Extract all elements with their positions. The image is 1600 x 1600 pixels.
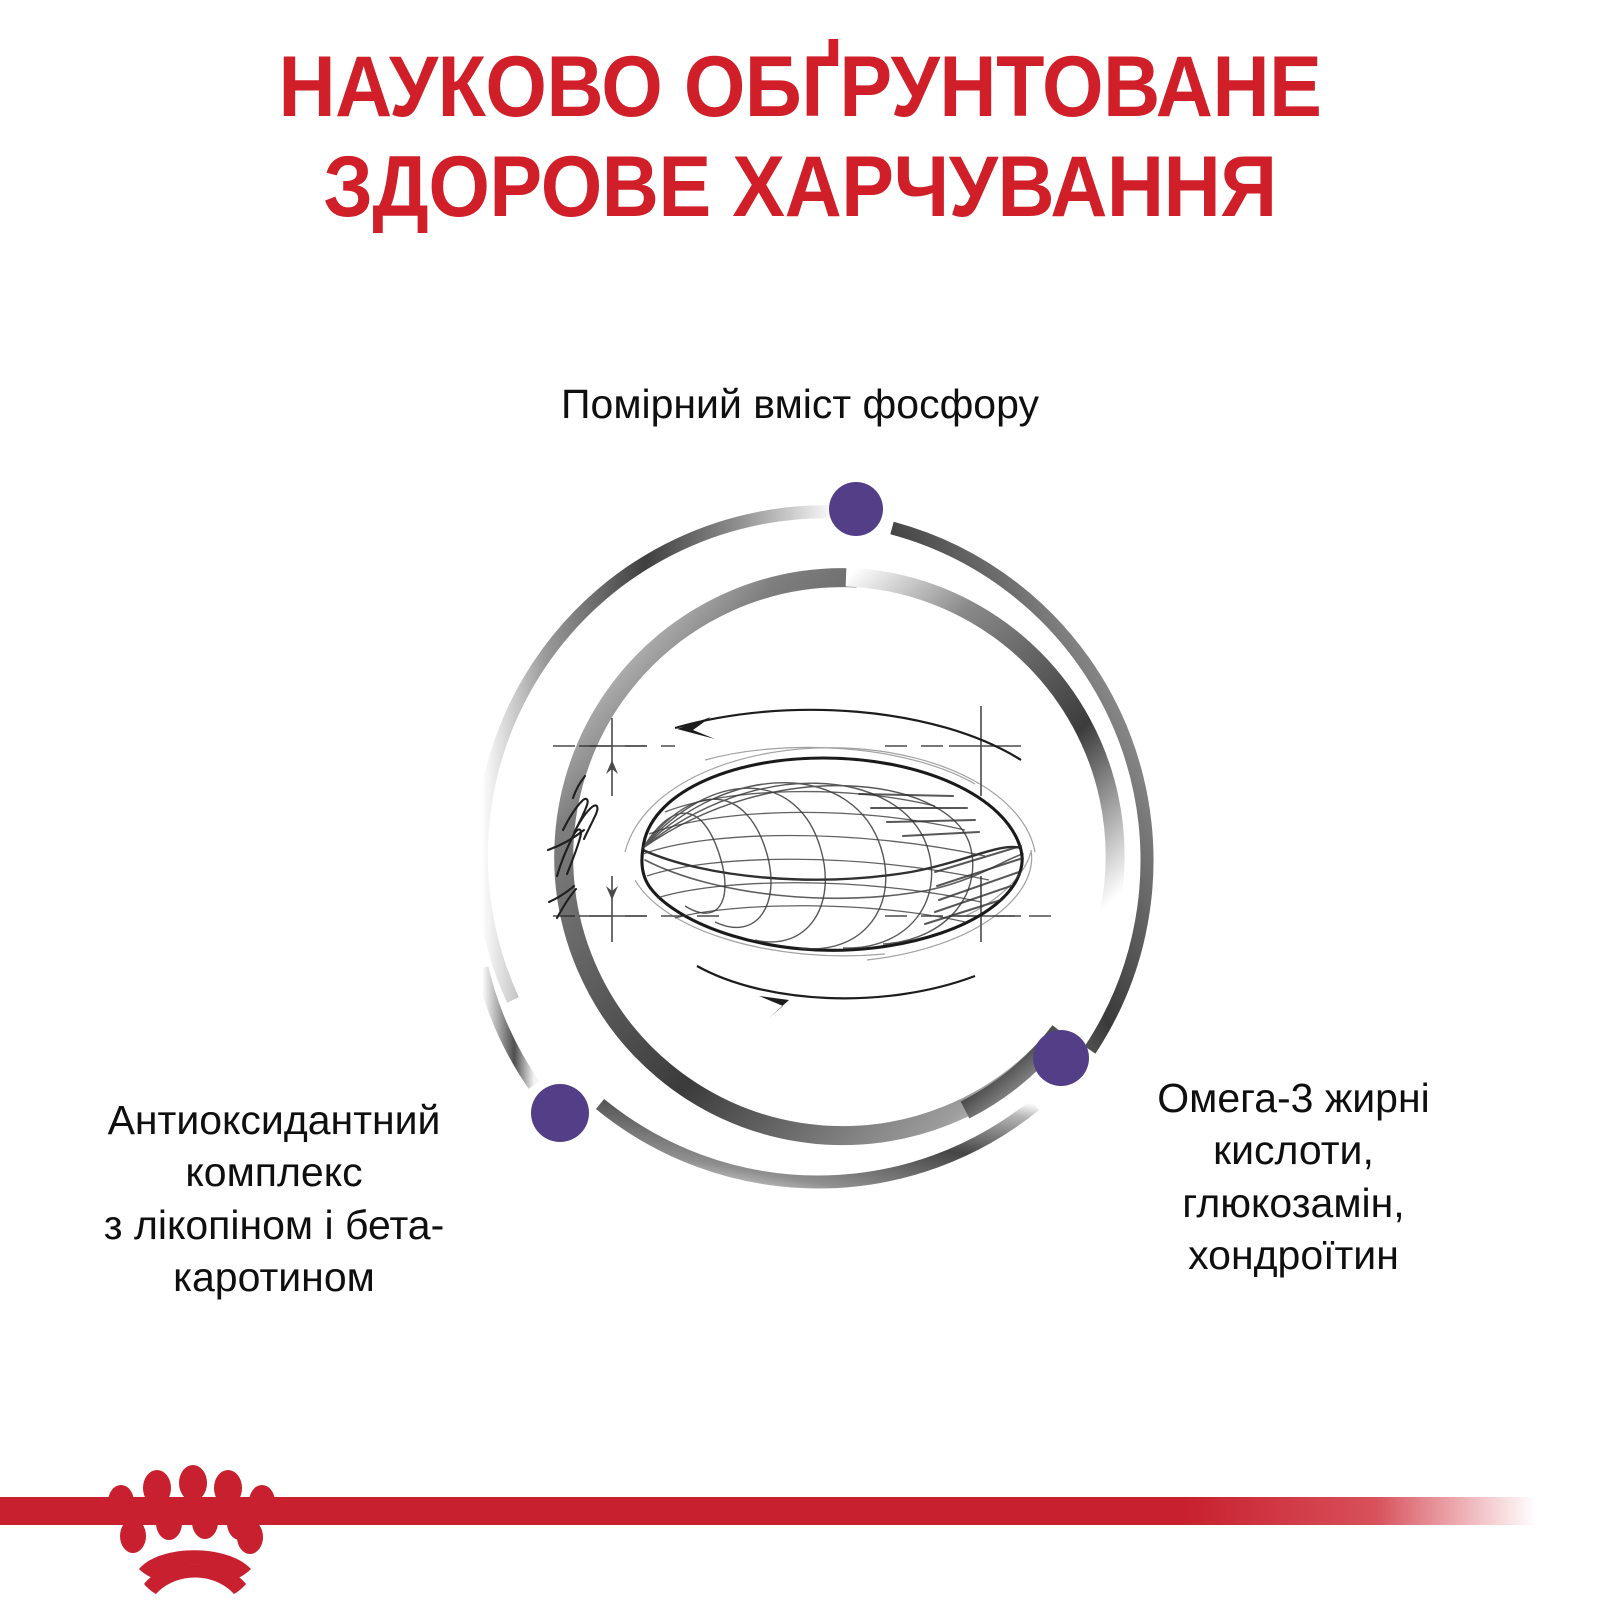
label-antioxidant: Антиоксидантний комплекс з лікопіном і б… xyxy=(24,1094,524,1304)
node-omega3[interactable] xyxy=(1033,1030,1089,1086)
inner-ring-arc-main xyxy=(564,578,1053,1136)
inner-ring-arc-bottom-right xyxy=(965,1031,1060,1110)
nutrition-circle-diagram xyxy=(0,0,1600,1600)
label-omega3: Омега-3 жирні кислоти, глюкозамін, хондр… xyxy=(1086,1072,1501,1282)
crown-dot-top-center xyxy=(179,1465,207,1501)
inner-ring-arc-top xyxy=(846,577,1115,1000)
outer-ring xyxy=(481,512,1147,1182)
kibble-shading xyxy=(859,794,1023,924)
inner-ring xyxy=(564,577,1115,1136)
sketch-rotation-arrows xyxy=(675,710,1021,1018)
footer-svg xyxy=(0,1440,1600,1600)
crown-dot-top-right xyxy=(214,1470,242,1506)
crown-dot-mid-right-outer xyxy=(237,1520,263,1554)
crown-dot-mid-left-outer xyxy=(120,1519,146,1553)
footer-brand-bar xyxy=(0,1440,1600,1600)
sketch-handwritten-note xyxy=(548,776,597,918)
crown-dot-mid-left xyxy=(156,1506,182,1540)
crown-dot-top-left xyxy=(143,1470,171,1506)
outer-ring-arc-bottom xyxy=(600,1104,1035,1182)
node-phosphorus[interactable] xyxy=(829,482,883,536)
kibble-wireframe-latitudes xyxy=(643,792,989,922)
sketch-construction-lines xyxy=(553,706,1055,942)
outer-ring-arc-top-left xyxy=(481,512,837,1000)
crown-dot-top-left-outer xyxy=(108,1485,134,1519)
diagram-svg xyxy=(0,0,1600,1600)
node-antioxidant[interactable] xyxy=(531,1084,589,1142)
kibble-sketch-overshoot xyxy=(625,747,1035,960)
kibble-wireframe xyxy=(643,783,973,949)
kibble-body xyxy=(642,758,1023,950)
page-title: НАУКОВО ОБҐРУНТОВАНЕ ЗДОРОВЕ ХАРЧУВАННЯ xyxy=(64,38,1536,238)
infographic-page: НАУКОВО ОБҐРУНТОВАНЕ ЗДОРОВЕ ХАРЧУВАННЯ xyxy=(0,0,1600,1600)
label-phosphorus: Помірний вміст фосфору xyxy=(0,378,1600,430)
kibble-sketch xyxy=(548,706,1055,1018)
outer-ring-arc-right xyxy=(892,528,1147,1050)
outer-ring-arc-lower-left xyxy=(482,968,534,1085)
crown-dot-top-right-outer xyxy=(249,1485,275,1519)
crown-dot-mid-center xyxy=(192,1505,218,1539)
royal-canin-crown-logo xyxy=(108,1465,275,1594)
